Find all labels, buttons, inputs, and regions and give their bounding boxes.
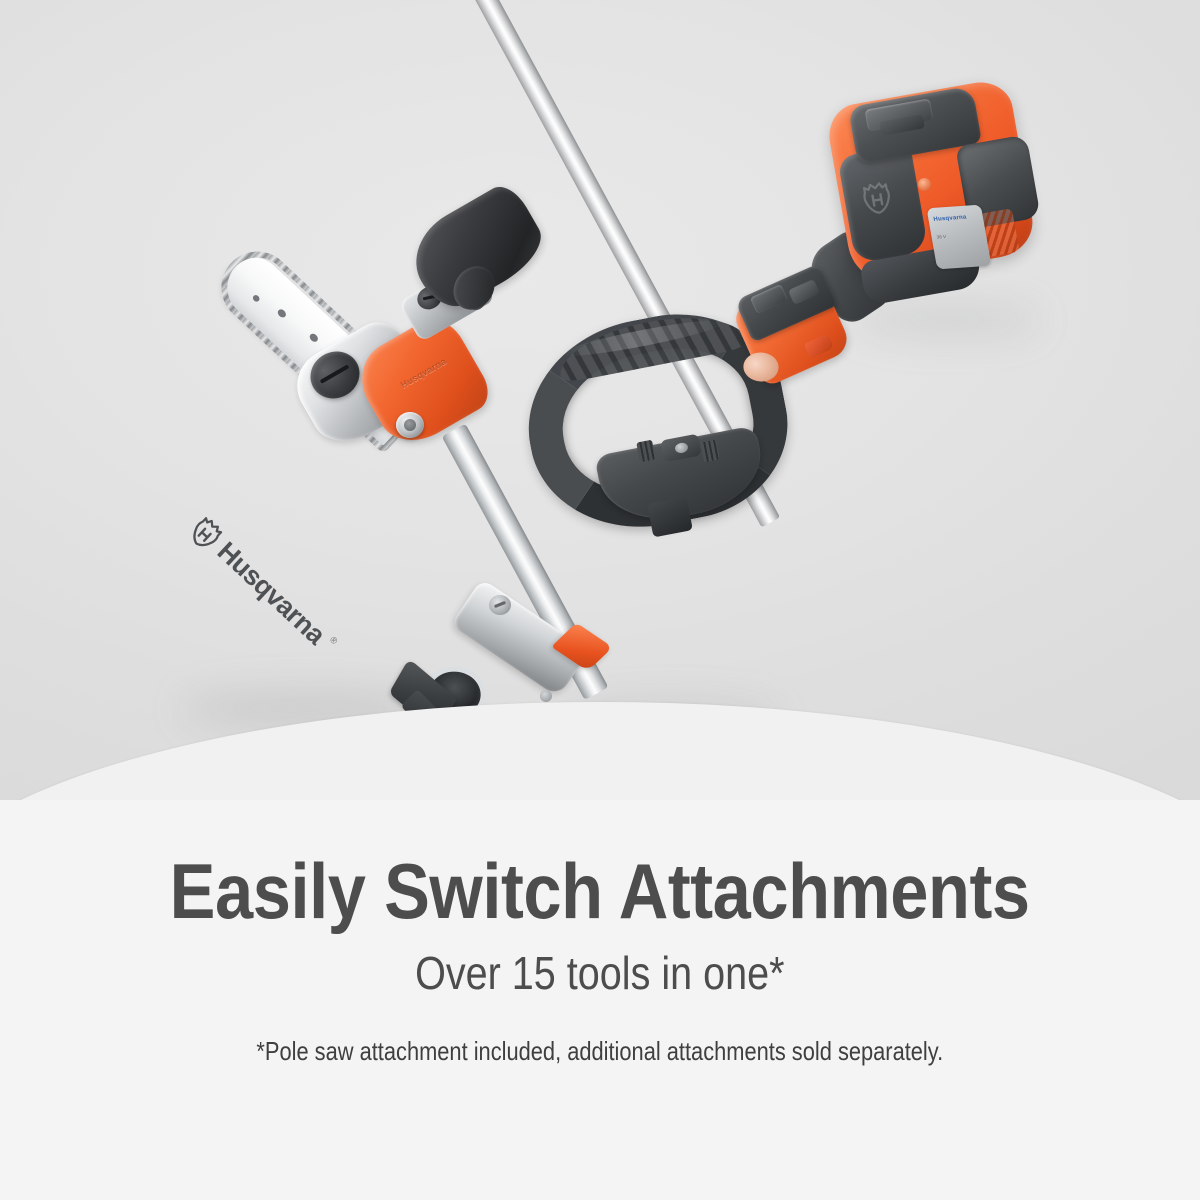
husqvarna-wordmark: Husqvarna	[211, 536, 331, 651]
motor-pivot-dot	[918, 178, 931, 191]
bar-brand-wordmark: Husqvarna ®	[185, 512, 340, 660]
subheadline: Over 15 tools in one*	[415, 950, 784, 996]
coupler-pin	[540, 690, 552, 702]
bracket-clip	[647, 496, 693, 537]
registered-mark: ®	[328, 634, 340, 646]
spec-label-brand: Husqvarna	[933, 214, 967, 225]
spec-label: Husqvarna 36 V	[927, 205, 992, 270]
husqvarna-crown-h-icon	[859, 180, 894, 217]
spec-label-voltage: 36 V	[936, 233, 947, 241]
footnote-disclaimer: *Pole saw attachment included, additiona…	[257, 1038, 944, 1064]
hero-product-image: Husqvarna ® Husqvarna	[0, 0, 1200, 800]
panel-divider-arc	[0, 702, 1200, 800]
chain-tension-nut	[396, 412, 424, 438]
text-panel: Easily Switch Attachments Over 15 tools …	[0, 800, 1200, 1200]
marketing-image: Husqvarna ® Husqvarna	[0, 0, 1200, 1200]
headline: Easily Switch Attachments	[170, 852, 1030, 930]
coupler-screw	[489, 595, 511, 615]
